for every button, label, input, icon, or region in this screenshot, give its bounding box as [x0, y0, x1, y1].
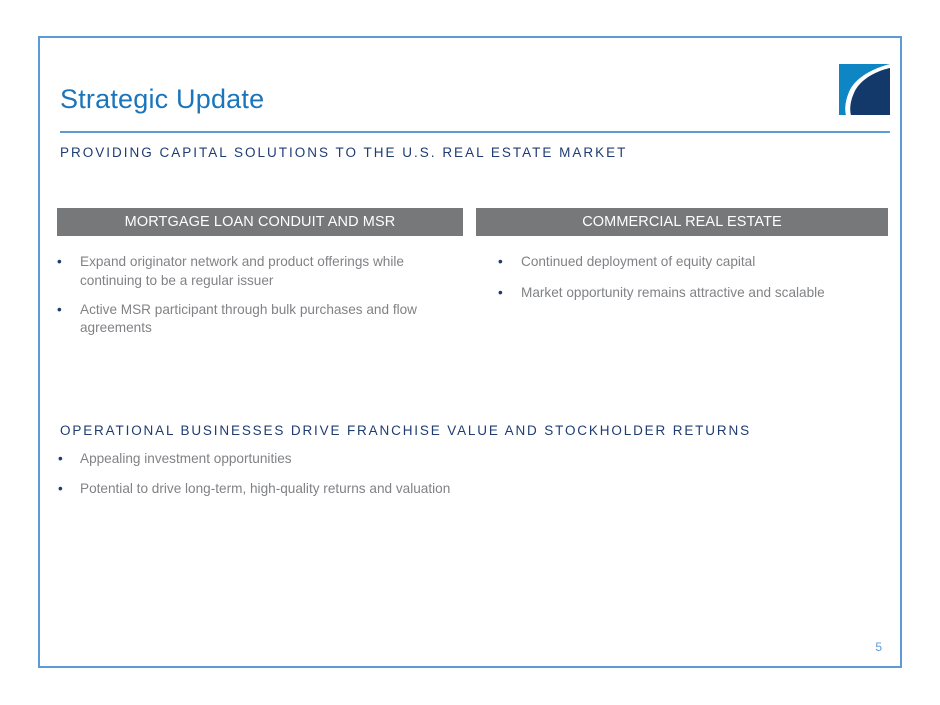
bullet-list: • Appealing investment opportunities • P… — [58, 450, 678, 499]
list-item: • Potential to drive long-term, high-qua… — [58, 480, 678, 499]
bullet-list-commercial: • Continued deployment of equity capital… — [476, 253, 896, 315]
list-item-label: Active MSR participant through bulk purc… — [57, 301, 467, 339]
title-divider — [60, 131, 890, 133]
bullet-list-mortgage: • Expand originator network and product … — [57, 253, 467, 348]
bullet-icon: • — [57, 301, 62, 320]
list-item-label: Expand originator network and product of… — [57, 253, 467, 291]
slide-frame: Strategic Update PROVIDING CAPITAL SOLUT… — [38, 36, 902, 668]
page-title: Strategic Update — [60, 84, 264, 115]
bullet-list: • Expand originator network and product … — [57, 253, 467, 338]
page-subtitle: PROVIDING CAPITAL SOLUTIONS TO THE U.S. … — [60, 145, 627, 160]
list-item-label: Continued deployment of equity capital — [476, 253, 896, 272]
bullet-icon: • — [58, 450, 63, 469]
list-item-label: Potential to drive long-term, high-quali… — [58, 480, 678, 499]
list-item: • Active MSR participant through bulk pu… — [57, 301, 467, 339]
company-logo — [839, 64, 890, 115]
column-header-mortgage: MORTGAGE LOAN CONDUIT AND MSR — [57, 208, 463, 236]
bullet-icon: • — [498, 253, 503, 272]
list-item: • Expand originator network and product … — [57, 253, 467, 291]
list-item-label: Market opportunity remains attractive an… — [476, 284, 896, 303]
bullet-list-operational: • Appealing investment opportunities • P… — [58, 450, 678, 510]
list-item-label: Appealing investment opportunities — [58, 450, 678, 469]
bullet-icon: • — [498, 284, 503, 303]
column-header-commercial: COMMERCIAL REAL ESTATE — [476, 208, 888, 236]
page-number: 5 — [875, 640, 882, 654]
list-item: • Market opportunity remains attractive … — [476, 284, 896, 303]
bullet-icon: • — [58, 480, 63, 499]
bullet-list: • Continued deployment of equity capital… — [476, 253, 896, 303]
bullet-icon: • — [57, 253, 62, 272]
list-item: • Continued deployment of equity capital — [476, 253, 896, 272]
section-heading-operational: OPERATIONAL BUSINESSES DRIVE FRANCHISE V… — [60, 423, 751, 438]
list-item: • Appealing investment opportunities — [58, 450, 678, 469]
